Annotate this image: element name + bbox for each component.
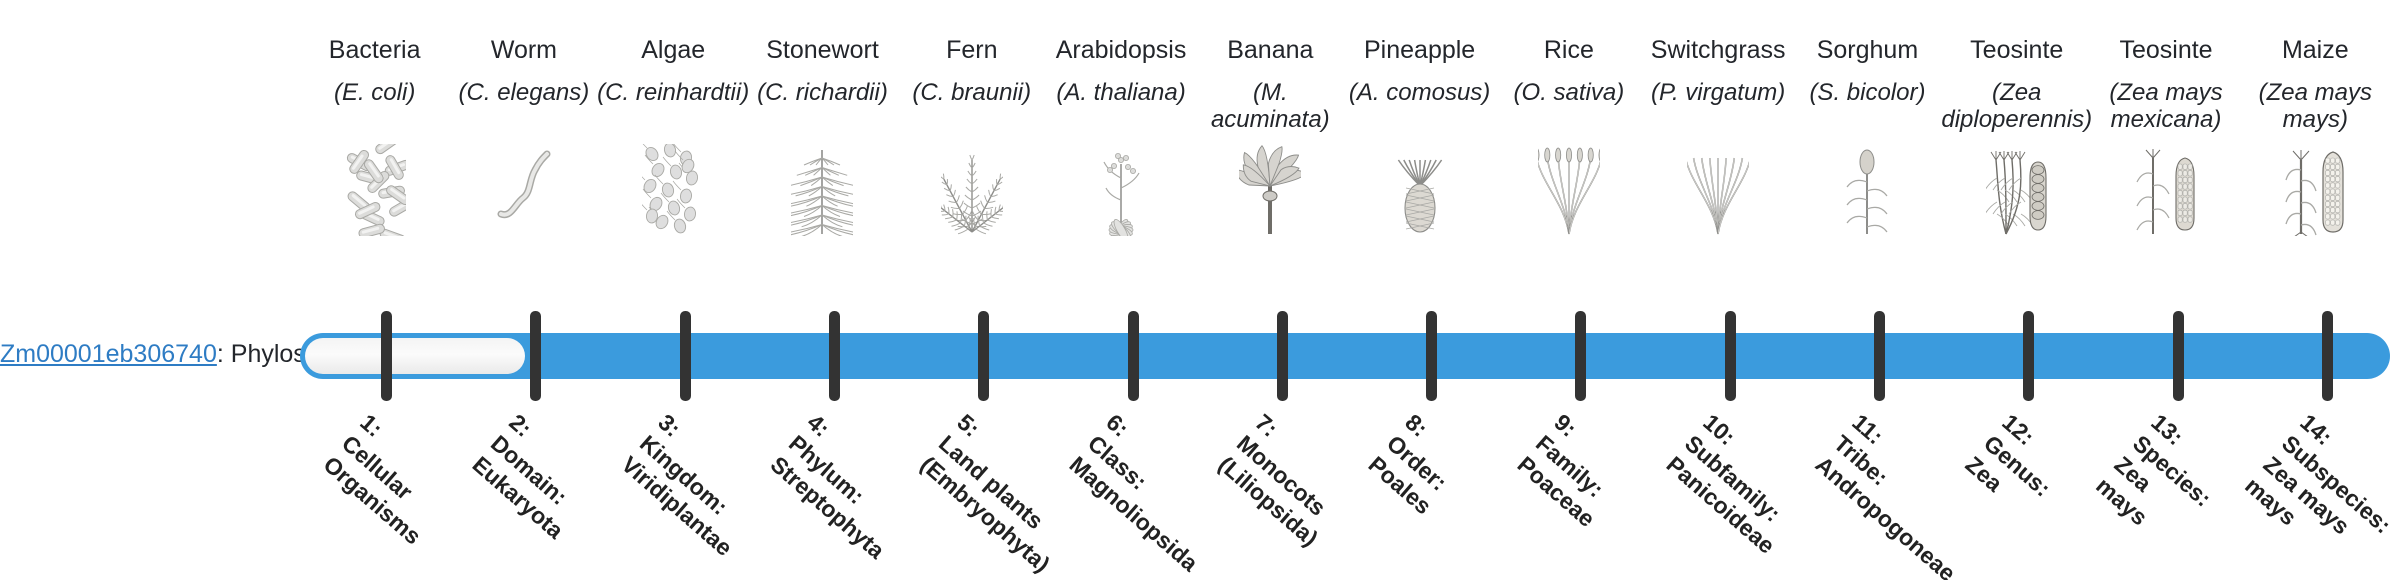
stratum-label: 11: Tribe: Andropogoneae bbox=[1810, 408, 2092, 580]
phylostratum-progress-bar[interactable] bbox=[300, 333, 2390, 379]
species-common-name: Teosinte bbox=[2119, 36, 2212, 66]
stratum-label: 14: Subspecies: Zea mays mays bbox=[2240, 408, 2400, 580]
stratum-label: 10: Subfamily: Panicoideae bbox=[1661, 408, 1943, 580]
species-scientific-name: (C. braunii) bbox=[894, 80, 1049, 142]
species-column: Sorghum(S. bicolor) bbox=[1793, 36, 1942, 236]
species-common-name: Arabidopsis bbox=[1056, 36, 1187, 66]
worm-icon bbox=[449, 144, 598, 236]
species-scientific-name: (C. elegans) bbox=[446, 80, 601, 142]
species-common-name: Bacteria bbox=[329, 36, 421, 66]
stratum-label: 12: Genus: Zea bbox=[1960, 408, 2242, 580]
species-common-name: Switchgrass bbox=[1651, 36, 1786, 66]
pineapple-icon bbox=[1345, 144, 1494, 236]
phylostratum-figure: Zm00001eb306740: Phylostratum 2 Bacteria… bbox=[0, 0, 2400, 580]
species-common-name: Banana bbox=[1227, 36, 1313, 66]
species-common-name: Pineapple bbox=[1364, 36, 1475, 66]
stratum-label: 2: Domain: Eukaryota bbox=[467, 408, 749, 580]
species-common-name: Stonewort bbox=[766, 36, 879, 66]
strata-label-layer: 1: Cellular Organisms2: Domain: Eukaryot… bbox=[300, 380, 2390, 580]
species-column: Pineapple(A. comosus) bbox=[1345, 36, 1494, 236]
progress-track bbox=[300, 333, 2390, 379]
stonewort-icon bbox=[748, 144, 897, 236]
species-scientific-name: (A. comosus) bbox=[1342, 80, 1497, 142]
rice-icon bbox=[1494, 144, 1643, 236]
species-scientific-name: (C. reinhardtii) bbox=[596, 80, 751, 142]
sorghum-icon bbox=[1793, 144, 1942, 236]
fern-icon bbox=[897, 144, 1046, 236]
species-column: Bacteria(E. coli) bbox=[300, 36, 449, 236]
stratum-label: 8: Order: Poales bbox=[1362, 408, 1644, 580]
bacteria-icon bbox=[300, 144, 449, 236]
species-column: Maize(Zea mays mays) bbox=[2241, 36, 2390, 236]
species-column: Rice(O. sativa) bbox=[1494, 36, 1643, 236]
species-column: Stonewort(C. richardii) bbox=[748, 36, 897, 236]
teosinte-diplo-icon bbox=[1942, 144, 2091, 236]
arabidopsis-icon bbox=[1046, 144, 1195, 236]
species-common-name: Fern bbox=[946, 36, 997, 66]
algae-icon bbox=[599, 144, 748, 236]
species-column: Switchgrass(P. virgatum) bbox=[1644, 36, 1793, 236]
teosinte-mexicana-icon bbox=[2091, 144, 2240, 236]
species-scientific-name: (P. virgatum) bbox=[1641, 80, 1796, 142]
progress-unfilled-region bbox=[305, 338, 525, 374]
species-scientific-name: (O. sativa) bbox=[1491, 80, 1646, 142]
banana-icon bbox=[1196, 144, 1345, 236]
gene-id-link[interactable]: Zm00001eb306740 bbox=[0, 340, 217, 368]
stratum-label: 1: Cellular Organisms bbox=[317, 408, 599, 580]
species-scientific-name: (Zea diploperennis) bbox=[1939, 80, 2094, 142]
gene-phylostratum-label: Zm00001eb306740: Phylostratum 2 bbox=[0, 340, 290, 369]
species-scientific-name: (M. acuminata) bbox=[1193, 80, 1348, 142]
species-common-name: Algae bbox=[641, 36, 705, 66]
switchgrass-icon bbox=[1644, 144, 1793, 236]
species-column: Algae(C. reinhardtii) bbox=[599, 36, 748, 236]
stratum-label: 3: Kingdom: Viridiplantae bbox=[616, 408, 898, 580]
species-column: Fern(C. braunii) bbox=[897, 36, 1046, 236]
species-scientific-name: (E. coli) bbox=[297, 80, 452, 142]
species-column: Arabidopsis(A. thaliana) bbox=[1046, 36, 1195, 236]
stratum-label: 7: Monocots (Liliopsida) bbox=[1213, 408, 1495, 580]
stratum-label: 6: Class: Magnoliopsida bbox=[1064, 408, 1346, 580]
species-common-name: Maize bbox=[2282, 36, 2349, 66]
species-common-name: Worm bbox=[491, 36, 557, 66]
species-scientific-name: (C. richardii) bbox=[745, 80, 900, 142]
species-scientific-name: (A. thaliana) bbox=[1043, 80, 1198, 142]
species-scientific-name: (S. bicolor) bbox=[1790, 80, 1945, 142]
species-scientific-name: (Zea mays mexicana) bbox=[2088, 80, 2243, 142]
stratum-label: 5: Land plants (Embryophyta) bbox=[915, 408, 1197, 580]
gene-label-separator: : bbox=[217, 340, 231, 368]
species-scientific-name: (Zea mays mays) bbox=[2238, 80, 2393, 142]
species-column: Teosinte(Zea diploperennis) bbox=[1942, 36, 2091, 236]
species-common-name: Sorghum bbox=[1817, 36, 1918, 66]
stratum-label: 13: Species: Zea mays bbox=[2090, 408, 2390, 580]
species-common-name: Teosinte bbox=[1970, 36, 2063, 66]
stratum-label: 9: Family: Poaceae bbox=[1512, 408, 1794, 580]
species-common-name: Rice bbox=[1544, 36, 1594, 66]
species-column: Teosinte(Zea mays mexicana) bbox=[2091, 36, 2240, 236]
species-row: Bacteria(E. coli)Worm(C. elegans)Algae(C… bbox=[300, 36, 2390, 306]
species-column: Banana(M. acuminata) bbox=[1196, 36, 1345, 236]
maize-icon bbox=[2241, 144, 2390, 236]
species-column: Worm(C. elegans) bbox=[449, 36, 598, 236]
stratum-label: 4: Phylum: Streptophyta bbox=[765, 408, 1047, 580]
